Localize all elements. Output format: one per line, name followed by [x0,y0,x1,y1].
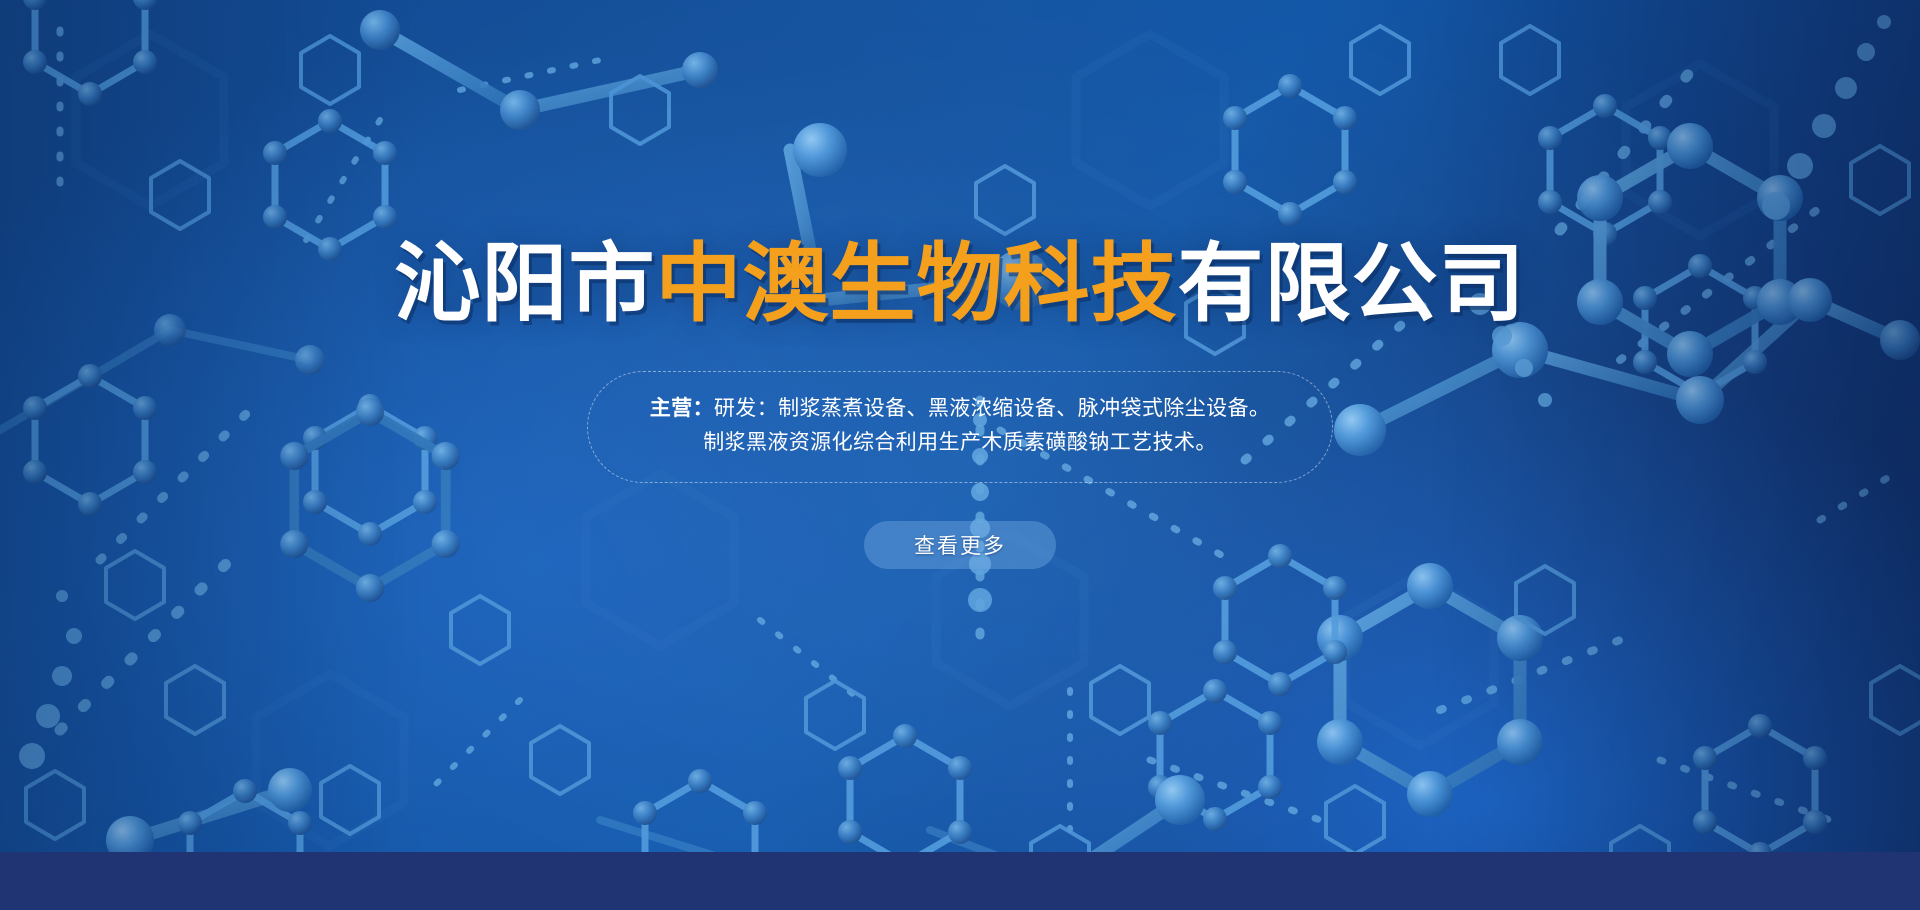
bottom-strip [0,852,1920,910]
subtitle-label: 主营： [650,397,714,420]
title-accent: 中澳生物科技 [656,236,1178,332]
page-title: 沁阳市中澳生物科技有限公司 [395,239,1526,330]
subtitle-box: 主营：研发：制浆蒸煮设备、黑液浓缩设备、脉冲袋式除尘设备。 制浆黑液资源化综合利… [587,371,1334,483]
view-more-button[interactable]: 查看更多 [864,521,1056,569]
hero-content: 沁阳市中澳生物科技有限公司 主营：研发：制浆蒸煮设备、黑液浓缩设备、脉冲袋式除尘… [0,0,1920,852]
title-suffix: 有限公司 [1178,236,1526,332]
subtitle-line-1-rest: 研发：制浆蒸煮设备、黑液浓缩设备、脉冲袋式除尘设备。 [714,397,1270,420]
subtitle-line-1: 主营：研发：制浆蒸煮设备、黑液浓缩设备、脉冲袋式除尘设备。 [650,392,1271,426]
subtitle-line-2: 制浆黑液资源化综合利用生产木质素磺酸钠工艺技术。 [650,426,1271,460]
title-prefix: 沁阳市 [395,236,656,332]
hero-banner: 沁阳市中澳生物科技有限公司 主营：研发：制浆蒸煮设备、黑液浓缩设备、脉冲袋式除尘… [0,0,1920,910]
